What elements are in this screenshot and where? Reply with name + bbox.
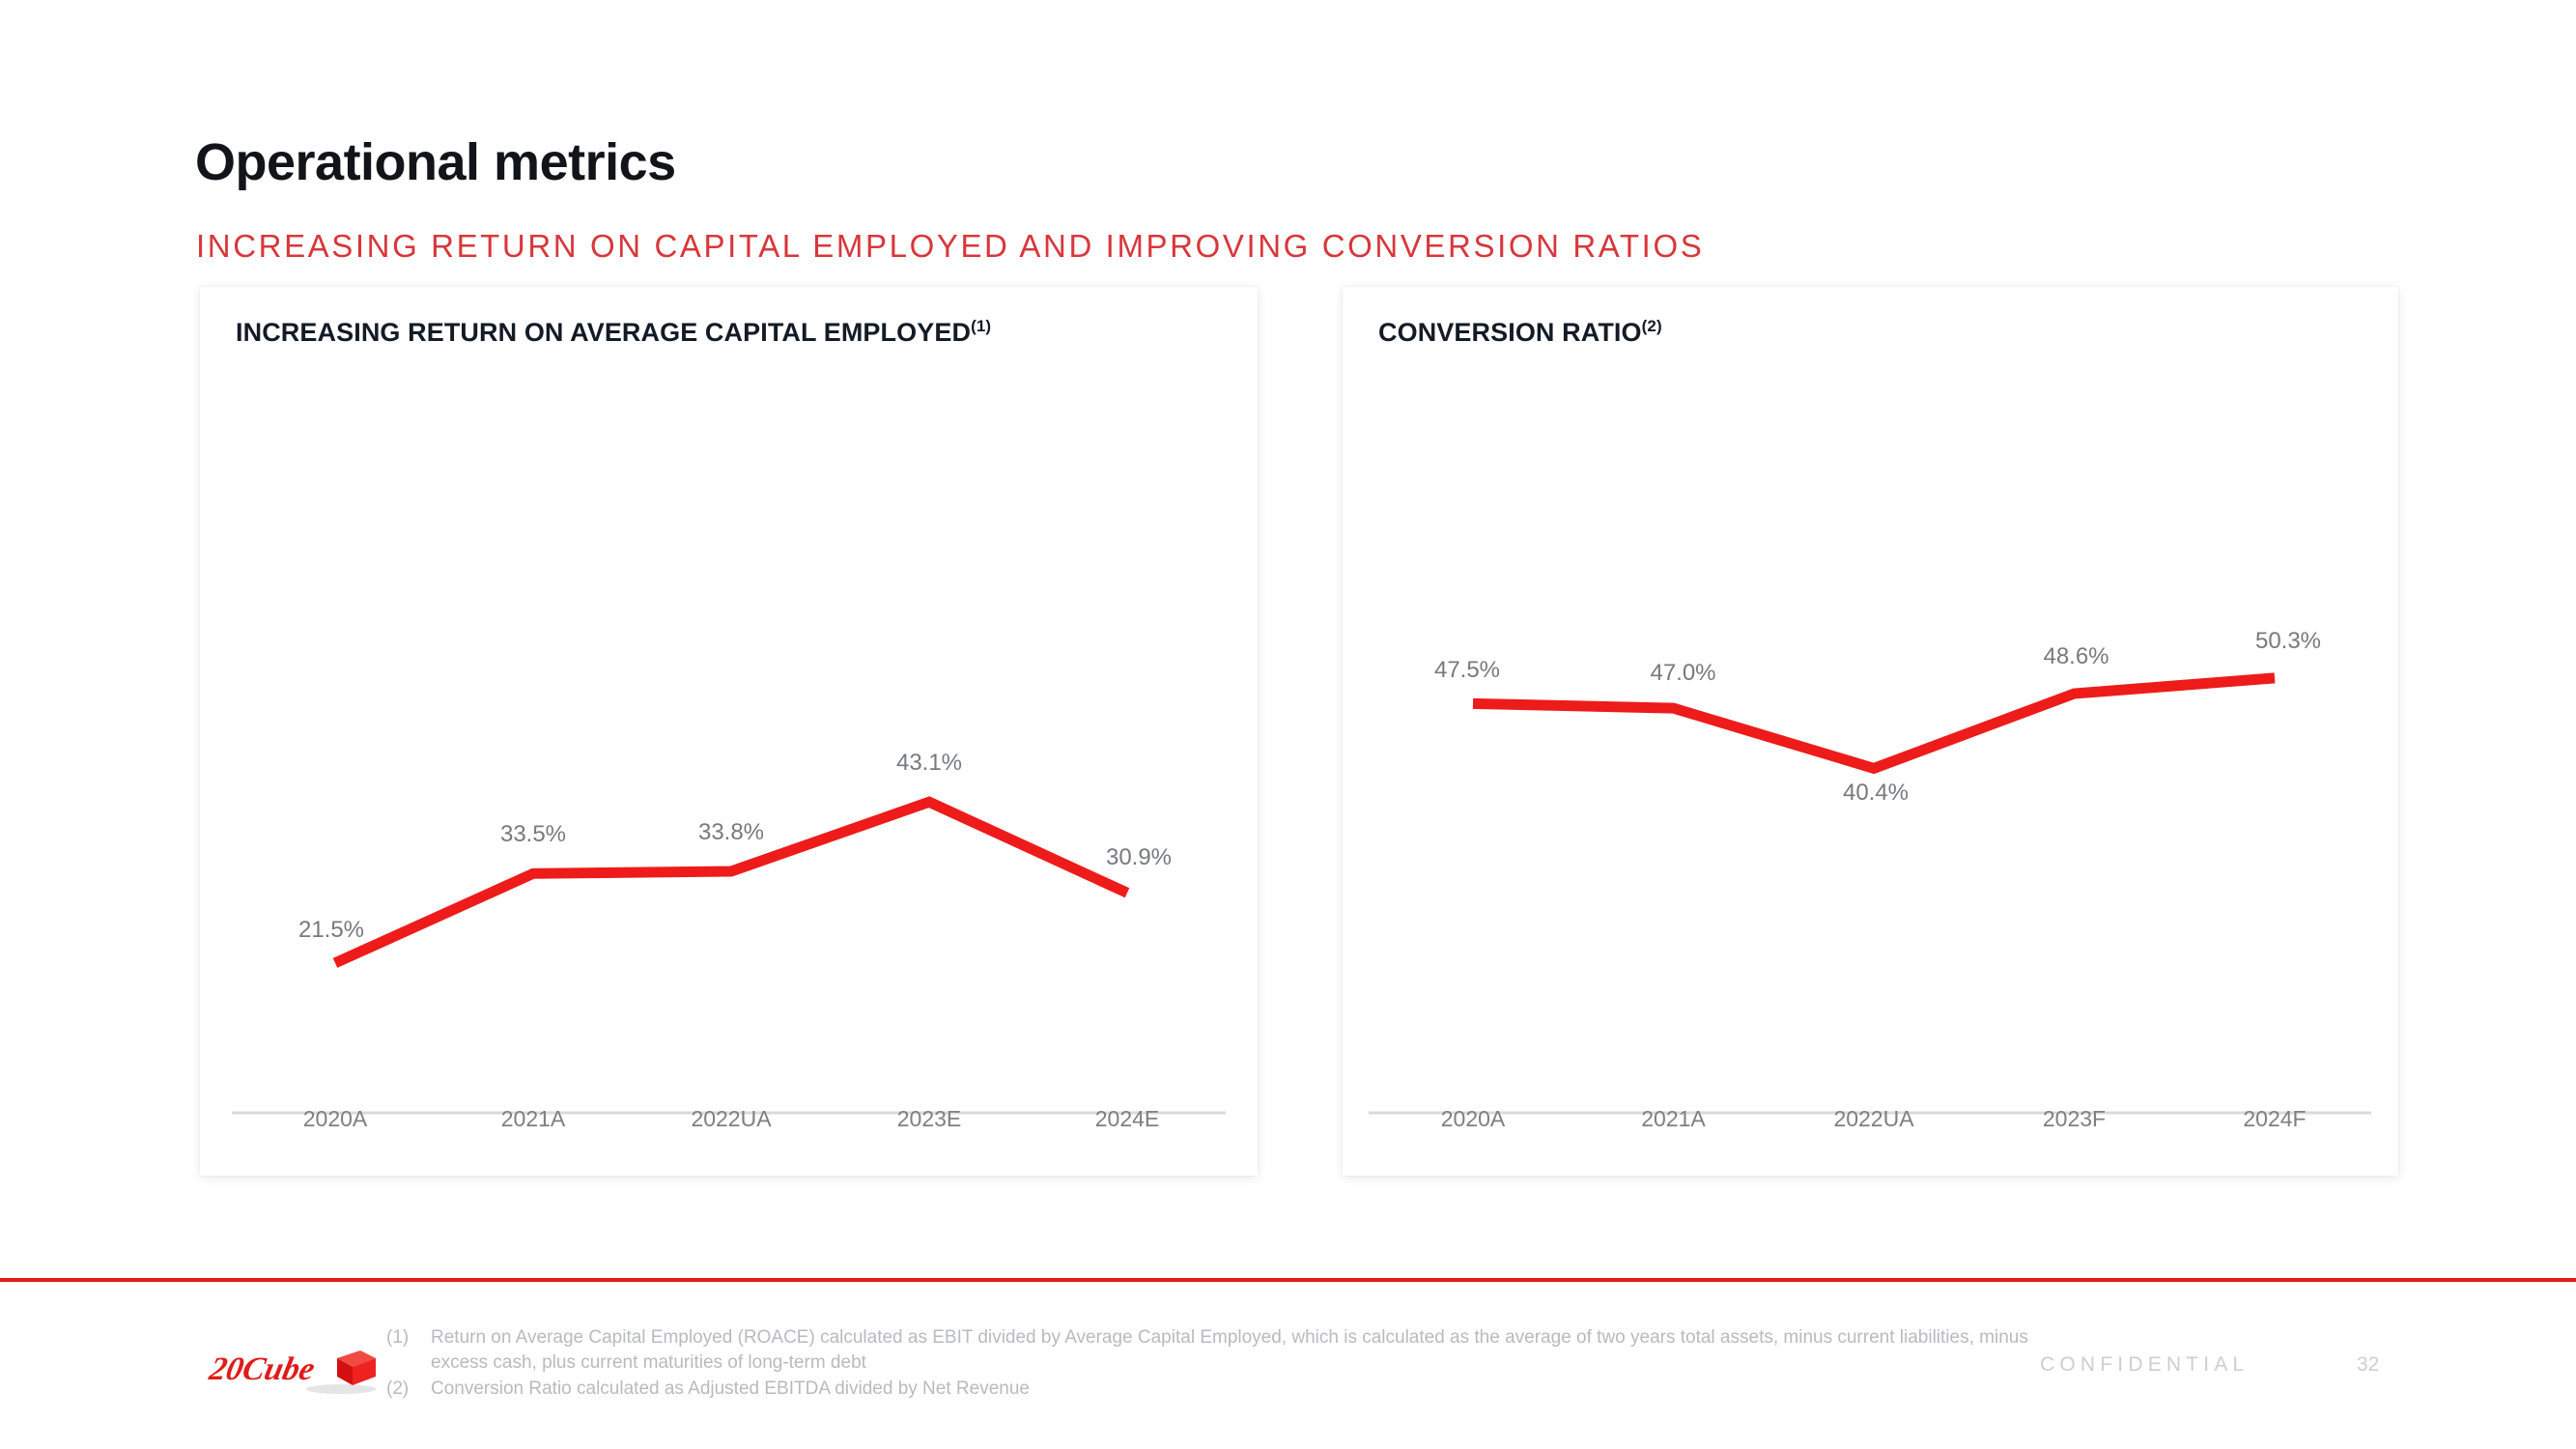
company-logo: 20Cube [198,1345,380,1395]
x-axis-label: 2021A [1641,1106,1706,1132]
x-axis-label: 2022UA [1833,1106,1913,1132]
x-axis-label: 2021A [501,1106,566,1132]
x-axis-label: 2024E [1095,1106,1160,1132]
data-label: 21.5% [298,917,364,944]
chart-roace-svg [200,287,1258,1176]
footnotes: (1) Return on Average Capital Employed (… [386,1325,2028,1404]
chart-card-roace: INCREASING RETURN ON AVERAGE CAPITAL EMP… [200,287,1258,1176]
chart-conversion: 47.5%47.0%40.4%48.6%50.3% 2020A2021A2022… [1343,287,2398,1176]
footnote-2-number: (2) [386,1377,431,1402]
x-axis-label: 2022UA [691,1106,771,1132]
chart-roace: 21.5%33.5%33.8%43.1%30.9% 2020A2021A2022… [200,287,1258,1176]
footer-divider [0,1278,2576,1282]
chart-conversion-svg [1343,287,2398,1176]
data-label: 30.9% [1106,844,1172,871]
svg-text:20Cube: 20Cube [206,1350,319,1387]
page-title: Operational metrics [195,135,676,190]
chart-conversion-series [1473,678,2275,769]
x-axis-label: 2023F [2043,1106,2106,1132]
page-number: 32 [2357,1353,2379,1377]
chart-card-conversion: CONVERSION RATIO(2) 47.5%47.0%40.4%48.6%… [1343,287,2398,1176]
data-label: 43.1% [896,750,962,777]
footnote-1-text: Return on Average Capital Employed (ROAC… [431,1325,2028,1376]
cube-icon [337,1350,376,1385]
data-label: 47.0% [1650,660,1715,687]
x-axis-label: 2023E [897,1106,962,1132]
data-label: 48.6% [2043,643,2109,670]
footnote-1: (1) Return on Average Capital Employed (… [386,1325,2028,1376]
data-label: 50.3% [2255,628,2321,655]
footnote-2: (2) Conversion Ratio calculated as Adjus… [386,1377,2028,1402]
data-label: 47.5% [1434,657,1500,684]
footnote-1-number: (1) [386,1325,431,1350]
data-label: 40.4% [1843,780,1909,807]
data-label: 33.5% [500,821,566,848]
data-label: 33.8% [698,819,764,846]
chart-conversion-x-axis-labels: 2020A2021A2022UA2023F2024F [1343,1106,2398,1145]
confidential-marker: CONFIDENTIAL [2040,1353,2249,1377]
x-axis-label: 2020A [303,1106,368,1132]
x-axis-label: 2024F [2243,1106,2306,1132]
chart-roace-x-axis-labels: 2020A2021A2022UA2023E2024E [200,1106,1258,1145]
page-subtitle: INCREASING RETURN ON CAPITAL EMPLOYED AN… [196,228,1704,265]
footnote-2-text: Conversion Ratio calculated as Adjusted … [431,1377,1030,1402]
slide: Operational metrics INCREASING RETURN ON… [0,0,2576,1449]
x-axis-label: 2020A [1441,1106,1506,1132]
